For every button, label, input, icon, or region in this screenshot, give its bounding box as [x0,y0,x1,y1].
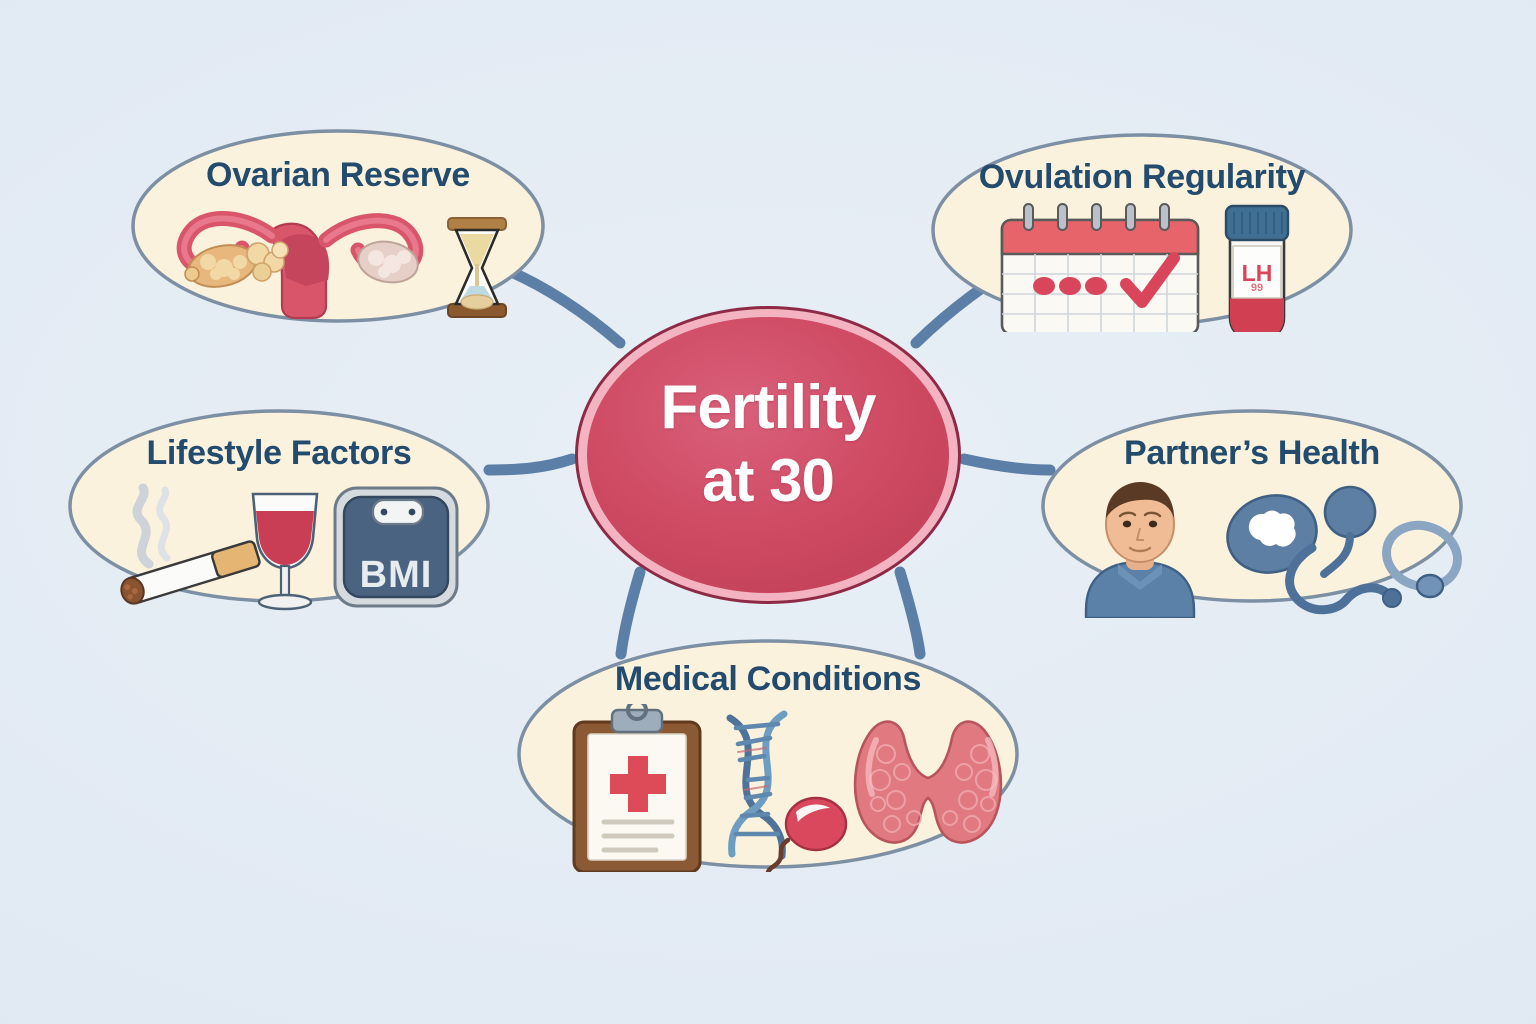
period-dots [1033,277,1107,295]
branch-node-ovarian-reserve[interactable]: Ovarian Reserve [130,128,546,324]
bmi-scale-text: BMI [335,554,457,597]
wine-glass-icon [253,494,317,609]
diagram-canvas: Fertility at 30 Ovarian Reserve [0,0,1536,1024]
calendar-icon [1002,204,1198,332]
medical-conditions-label: Medical Conditions [516,660,1020,699]
medical-conditions-art [516,704,1020,872]
branch-node-lifestyle-factors[interactable]: Lifestyle Factors [67,408,491,604]
smoke-icon [137,488,167,564]
lh-vial-subtext: 99 [1230,282,1284,294]
partners-health-art [1040,478,1464,618]
ovulation-regularity-label: Ovulation Regularity [930,158,1354,197]
branch-node-medical-conditions[interactable]: Medical Conditions [516,638,1020,870]
dna-helix-icon [730,714,784,856]
center-label-line2: at 30 [571,451,965,511]
ovarian-reserve-label: Ovarian Reserve [130,156,546,195]
thyroid-gland-icon [855,722,1001,843]
center-node-fertility-at-30[interactable]: Fertility at 30 [571,303,965,607]
stethoscope-chestpiece [1378,516,1464,607]
center-label-line1: Fertility [571,377,965,439]
edge-center-to-partners-health [964,459,1050,470]
uterus-ovaries-icon [184,219,421,318]
branch-node-ovulation-regularity[interactable]: Ovulation Regularity [930,132,1354,328]
ovarian-reserve-art [130,202,546,322]
partners-health-label: Partner’s Health [1040,434,1464,473]
branch-node-partners-health[interactable]: Partner’s Health [1040,408,1464,604]
ovulation-regularity-art [930,202,1354,332]
lifestyle-factors-label: Lifestyle Factors [67,434,491,473]
edge-center-to-lifestyle-factors [489,459,572,470]
hourglass-icon [448,218,506,317]
male-avatar-icon [1086,482,1194,618]
clipboard-red-cross-icon [574,704,700,872]
medical-cross-badge-icon [1218,485,1325,583]
